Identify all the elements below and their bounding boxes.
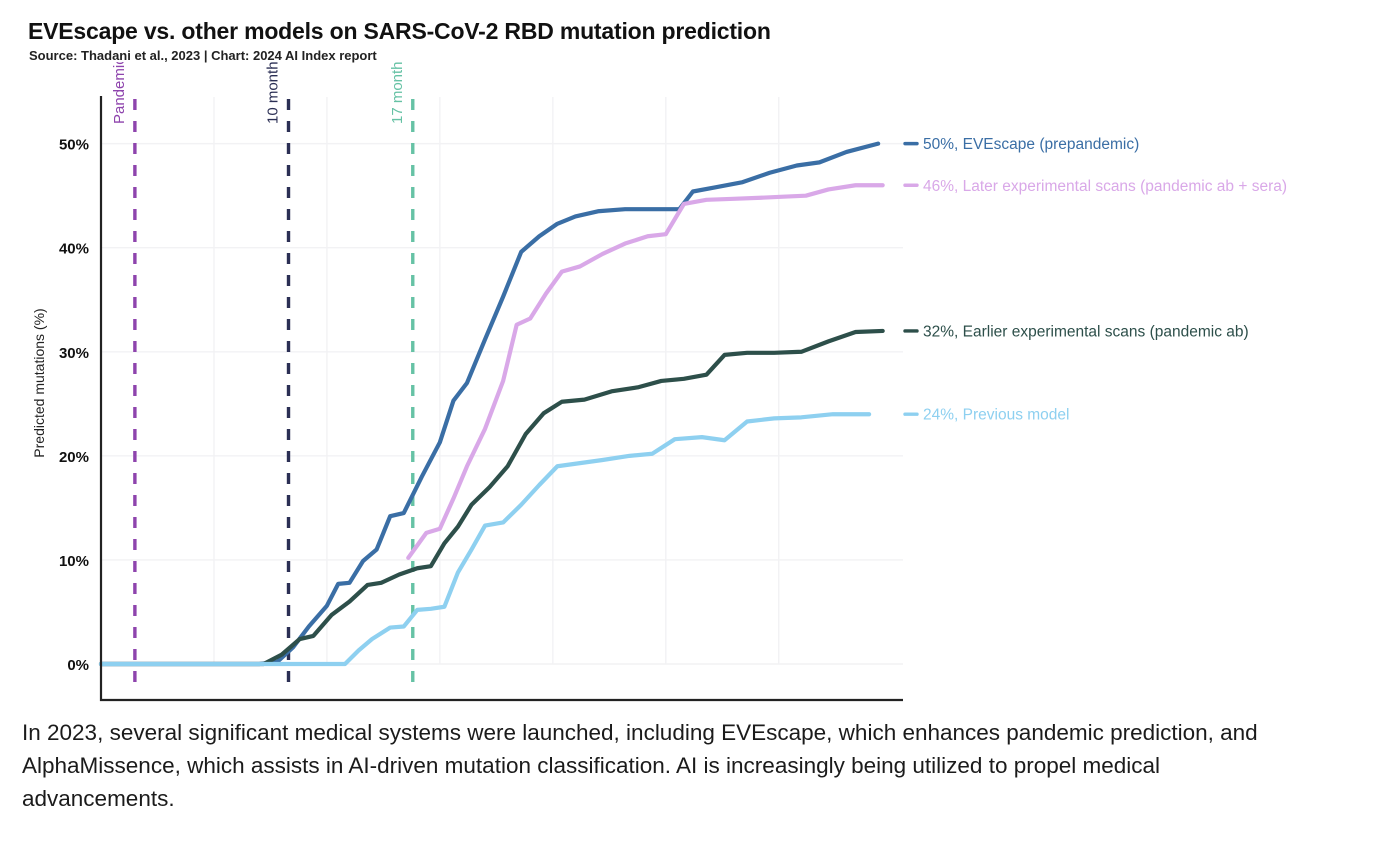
line-chart: Pandemic start10 months17 months 0%10%20… <box>0 62 1376 712</box>
y-tick-label: 0% <box>67 657 89 674</box>
series-line <box>101 331 883 664</box>
legend-label: 46%, Later experimental scans (pandemic … <box>923 178 1287 195</box>
axes-group <box>101 96 903 700</box>
annotation-label: 17 months <box>389 62 406 124</box>
page-title: EVEscape vs. other models on SARS-CoV-2 … <box>28 18 771 45</box>
series-line <box>101 144 878 664</box>
annotation-label: Pandemic start <box>111 62 128 124</box>
series-group <box>101 144 883 664</box>
annotation-lines-group: Pandemic start10 months17 months <box>111 62 413 692</box>
y-tick-label: 20% <box>59 449 89 466</box>
y-tick-label: 10% <box>59 553 89 570</box>
legend-label: 50%, EVEscape (prepandemic) <box>923 136 1139 153</box>
legend-group: 50%, EVEscape (prepandemic)46%, Later ex… <box>905 136 1287 424</box>
series-line <box>101 414 869 664</box>
y-axis-title: Predicted mutations (%) <box>31 308 47 457</box>
chart-page: EVEscape vs. other models on SARS-CoV-2 … <box>0 0 1376 848</box>
y-tick-label: 30% <box>59 345 89 362</box>
series-line <box>408 185 882 558</box>
annotation-label: 10 months <box>265 62 282 124</box>
figure-caption: In 2023, several significant medical sys… <box>22 716 1292 815</box>
y-tick-labels-group: 0%10%20%30%40%50% <box>59 137 89 674</box>
legend-label: 32%, Earlier experimental scans (pandemi… <box>923 323 1249 340</box>
legend-label: 24%, Previous model <box>923 407 1069 424</box>
y-tick-label: 50% <box>59 137 89 154</box>
chart-source-note: Source: Thadani et al., 2023 | Chart: 20… <box>29 48 377 63</box>
y-tick-label: 40% <box>59 241 89 258</box>
axis-lines <box>101 96 903 700</box>
chart-container: Pandemic start10 months17 months 0%10%20… <box>0 62 1376 712</box>
